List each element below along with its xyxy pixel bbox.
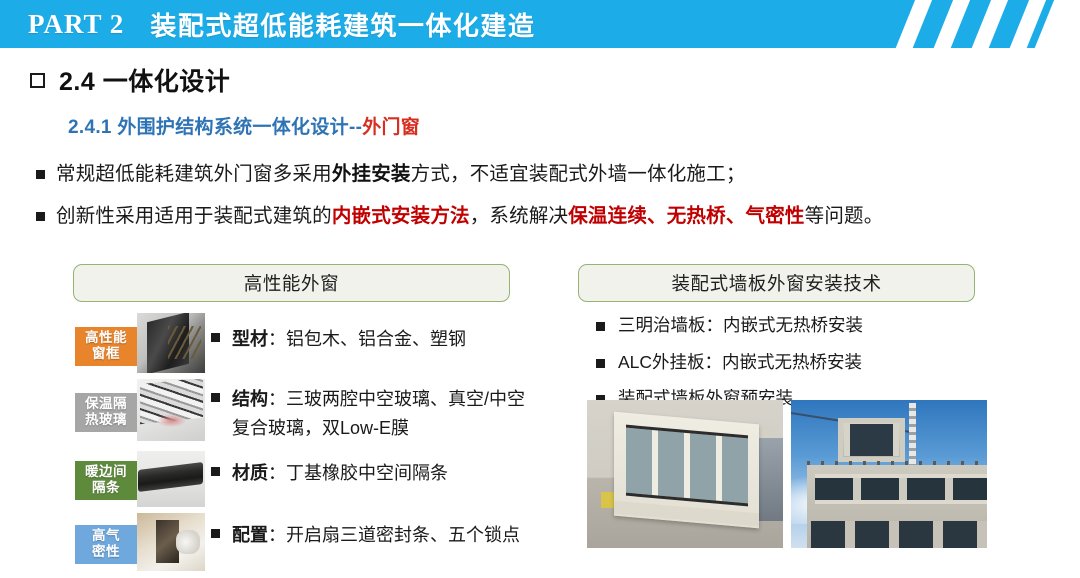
slide: PART 2 装配式超低能耗建筑一体化建造 2.4 一体化设计 2.4.1 外围… bbox=[0, 0, 1080, 578]
thumb-wrapper: 高性能 窗框 bbox=[75, 313, 205, 375]
intro-bullet-1-text: 常规超低能耗建筑外门窗多采用外挂安装方式，不适宜装配式外墙一体化施工； bbox=[56, 160, 746, 188]
square-bullet-icon bbox=[211, 467, 220, 476]
tag-line-2: 热玻璃 bbox=[75, 412, 137, 428]
square-bullet-icon bbox=[211, 393, 220, 402]
intro-bullet-list: 常规超低能耗建筑外门窗多采用外挂安装方式，不适宜装配式外墙一体化施工； 创新性采… bbox=[36, 160, 1056, 245]
building-under-construction-with-crane bbox=[791, 400, 987, 548]
high-performance-window-items: 高性能 窗框 型材：铝包木、铝合金、塑钢 保温隔 热玻璃 结构：三玻两腔中空玻璃… bbox=[75, 313, 545, 575]
square-bullet-icon bbox=[596, 359, 605, 368]
tag-line-1: 高性能 bbox=[75, 330, 137, 346]
photo-gallery bbox=[587, 400, 987, 548]
window-item-text: 配置：开启扇三道密封条、五个锁点 bbox=[232, 521, 520, 550]
window-item-text: 结构：三玻两腔中空玻璃、真空/中空复合玻璃，双Low-E膜 bbox=[232, 385, 532, 443]
square-bullet-icon bbox=[36, 212, 45, 221]
window-frame-photo bbox=[137, 313, 205, 373]
tag-line-2: 窗框 bbox=[75, 346, 137, 362]
window-item-row: 保温隔 热玻璃 结构：三玻两腔中空玻璃、真空/中空复合玻璃，双Low-E膜 bbox=[75, 379, 545, 451]
square-bullet-icon bbox=[211, 529, 220, 538]
window-item-bullet: 配置：开启扇三道密封条、五个锁点 bbox=[211, 513, 520, 550]
intro-bullet-2: 创新性采用适用于装配式建筑的内嵌式安装方法，系统解决保温连续、无热桥、气密性等问… bbox=[36, 202, 1056, 230]
wallpanel-bullet-text: 三明治墙板：内嵌式无热桥安装 bbox=[618, 314, 863, 338]
tag-line-1: 暖边间 bbox=[75, 464, 137, 480]
window-item-bullet: 结构：三玻两腔中空玻璃、真空/中空复合玻璃，双Low-E膜 bbox=[211, 379, 532, 443]
intro-bullet-2-text: 创新性采用适用于装配式建筑的内嵌式安装方法，系统解决保温连续、无热桥、气密性等问… bbox=[56, 202, 883, 230]
window-item-text: 型材：铝包木、铝合金、塑钢 bbox=[232, 325, 466, 354]
airtight-hardware-photo bbox=[137, 513, 205, 571]
subsection-heading-highlight: 外门窗 bbox=[362, 117, 420, 138]
thumb-wrapper: 保温隔 热玻璃 bbox=[75, 379, 205, 445]
square-bullet-icon bbox=[596, 322, 605, 331]
thumb-wrapper: 高气 密性 bbox=[75, 513, 205, 575]
subsection-heading: 2.4.1 外围护结构系统一体化设计--外门窗 bbox=[68, 112, 420, 139]
window-item-text: 材质：丁基橡胶中空间隔条 bbox=[232, 459, 448, 488]
prefab-wall-panel-with-preinstalled-windows bbox=[587, 400, 783, 548]
panel-header-left-label: 高性能外窗 bbox=[244, 270, 340, 296]
square-bullet-icon bbox=[211, 333, 220, 342]
wallpanel-bullet: 三明治墙板：内嵌式无热桥安装 bbox=[596, 314, 986, 338]
tag-high-airtightness: 高气 密性 bbox=[75, 525, 137, 564]
section-heading-text: 2.4 一体化设计 bbox=[59, 62, 230, 98]
square-bullet-icon bbox=[36, 170, 45, 179]
square-bullet-icon bbox=[30, 73, 45, 88]
tag-line-2: 密性 bbox=[75, 544, 137, 560]
slide-header-bar: PART 2 装配式超低能耗建筑一体化建造 bbox=[0, 0, 1080, 48]
tag-warm-edge-spacer: 暖边间 隔条 bbox=[75, 461, 137, 500]
tag-line-2: 隔条 bbox=[75, 480, 137, 496]
window-item-bullet: 型材：铝包木、铝合金、塑钢 bbox=[211, 313, 466, 354]
intro-bullet-1: 常规超低能耗建筑外门窗多采用外挂安装方式，不适宜装配式外墙一体化施工； bbox=[36, 160, 1056, 188]
part-label: PART 2 bbox=[28, 9, 124, 40]
warm-edge-spacer-photo bbox=[137, 451, 205, 507]
panel-header-right-label: 装配式墙板外窗安装技术 bbox=[671, 270, 881, 296]
window-item-bullet: 材质：丁基橡胶中空间隔条 bbox=[211, 451, 448, 488]
wallpanel-bullet-text: ALC外挂板：内嵌式无热桥安装 bbox=[618, 351, 862, 375]
tag-line-1: 保温隔 bbox=[75, 396, 137, 412]
tag-line-1: 高气 bbox=[75, 528, 137, 544]
tag-insulating-glass: 保温隔 热玻璃 bbox=[75, 393, 137, 432]
part-title: 装配式超低能耗建筑一体化建造 bbox=[150, 6, 535, 43]
subsection-heading-main: 2.4.1 外围护结构系统一体化设计-- bbox=[68, 117, 362, 138]
panel-header-high-performance-window: 高性能外窗 bbox=[73, 264, 510, 302]
insulating-glass-photo bbox=[137, 379, 205, 441]
window-item-row: 高性能 窗框 型材：铝包木、铝合金、塑钢 bbox=[75, 313, 545, 379]
section-heading: 2.4 一体化设计 bbox=[30, 62, 230, 98]
thumb-wrapper: 暖边间 隔条 bbox=[75, 451, 205, 511]
window-item-row: 暖边间 隔条 材质：丁基橡胶中空间隔条 bbox=[75, 451, 545, 513]
panel-header-wallpanel-window-install: 装配式墙板外窗安装技术 bbox=[578, 264, 975, 302]
wallpanel-bullet: ALC外挂板：内嵌式无热桥安装 bbox=[596, 351, 986, 375]
tag-high-performance-frame: 高性能 窗框 bbox=[75, 327, 137, 366]
window-item-row: 高气 密性 配置：开启扇三道密封条、五个锁点 bbox=[75, 513, 545, 575]
